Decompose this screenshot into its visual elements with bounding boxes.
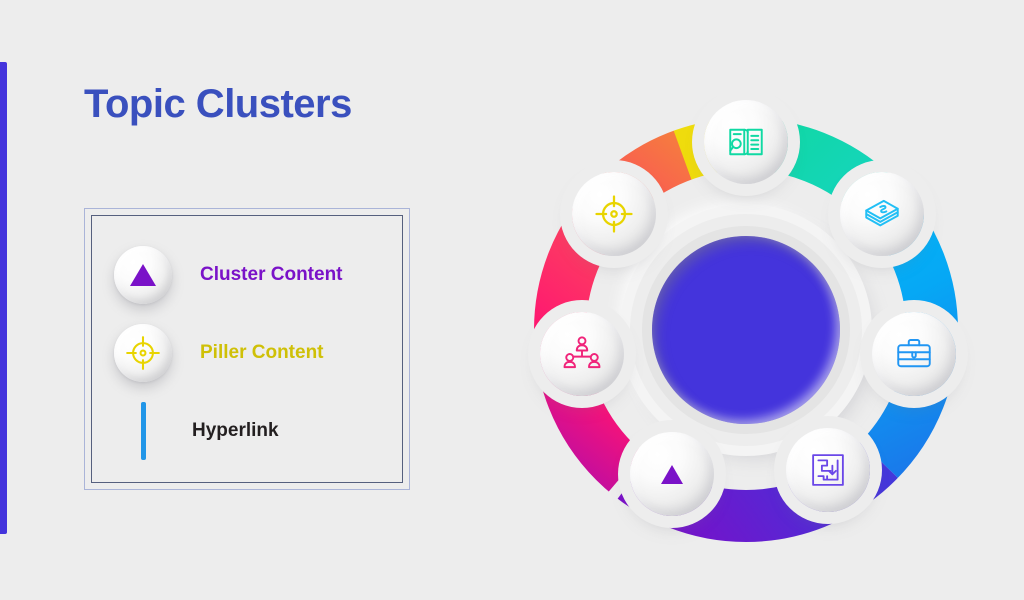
legend-item-piller-content[interactable]: Piller Content	[114, 324, 392, 382]
legend-panel-inner: Cluster Content Piller Content Hyperlink	[91, 215, 403, 483]
book-search-icon	[725, 121, 767, 163]
cluster-content-marker	[114, 246, 172, 304]
wheel-node-piller-target[interactable]	[572, 172, 656, 256]
wheel-node-cluster-triangle[interactable]	[630, 432, 714, 516]
triangle-icon	[130, 264, 156, 286]
target-icon	[593, 193, 635, 235]
legend-item-hyperlink[interactable]: Hyperlink	[114, 402, 392, 460]
target-icon	[124, 334, 162, 372]
topic-cluster-wheel	[514, 104, 978, 556]
piller-content-marker	[114, 324, 172, 382]
legend-label-piller-content: Piller Content	[200, 342, 324, 364]
legend-label-hyperlink: Hyperlink	[192, 420, 279, 442]
legend-item-cluster-content[interactable]: Cluster Content	[114, 246, 392, 304]
team-network-icon	[561, 333, 603, 375]
maze-icon	[807, 449, 849, 491]
wheel-hub-core	[652, 236, 840, 424]
wheel-node-money-stack[interactable]	[840, 172, 924, 256]
vertical-bar-icon	[141, 402, 146, 460]
left-accent-bar	[0, 62, 7, 534]
wheel-hub	[630, 214, 862, 446]
legend-label-cluster-content: Cluster Content	[200, 264, 343, 286]
page-title: Topic Clusters	[84, 82, 352, 126]
wheel-node-team-network[interactable]	[540, 312, 624, 396]
briefcase-icon	[893, 333, 935, 375]
wheel-node-briefcase[interactable]	[872, 312, 956, 396]
legend-panel: Cluster Content Piller Content Hyperlink	[84, 208, 410, 490]
triangle-icon	[661, 465, 683, 484]
money-stack-icon	[861, 193, 903, 235]
wheel-node-maze[interactable]	[786, 428, 870, 512]
wheel-node-book-search[interactable]	[704, 100, 788, 184]
